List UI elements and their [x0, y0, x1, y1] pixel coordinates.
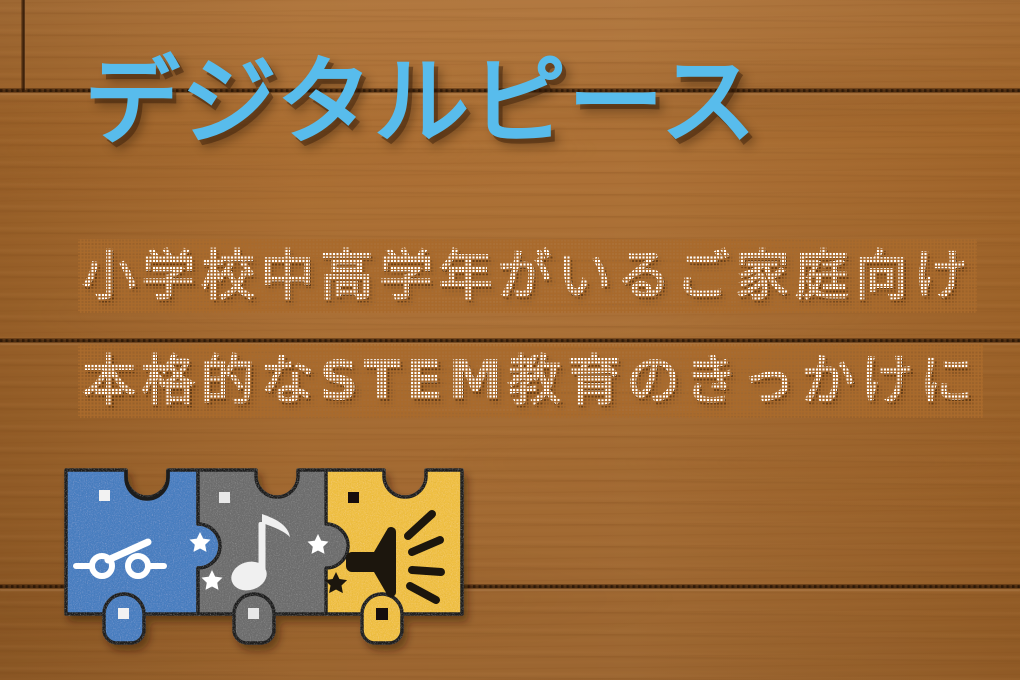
- plank-seam-vertical: [21, 0, 26, 90]
- subtitle-line-1-text: 小学校中高学年がいるご家庭向け: [82, 244, 973, 307]
- gray-tab-marker: [248, 608, 259, 619]
- subtitle-line-1: 小学校中高学年がいるご家庭向け: [82, 245, 973, 307]
- blue-corner-marker: [99, 490, 110, 501]
- blue-socket-edge: [126, 470, 168, 499]
- puzzle-logo: [64, 466, 464, 642]
- subtitle-line-2: 本格的なSTEM教育のきっかけに: [82, 350, 979, 412]
- puzzle-piece-yellow: [325, 470, 462, 643]
- blue-tab-marker: [118, 608, 129, 619]
- yellow-corner-marker: [348, 492, 359, 503]
- subtitle-line-2-text: 本格的なSTEM教育のきっかけに: [82, 349, 979, 412]
- page-title: デジタルピース: [84, 50, 757, 154]
- plank-seam-2: [0, 338, 1020, 344]
- poster-canvas: デジタルピース 小学校中高学年がいるご家庭向け 本格的なSTEM教育のきっかけに: [0, 0, 1020, 680]
- yellow-tab-marker: [376, 608, 388, 620]
- gray-corner-marker: [219, 492, 230, 503]
